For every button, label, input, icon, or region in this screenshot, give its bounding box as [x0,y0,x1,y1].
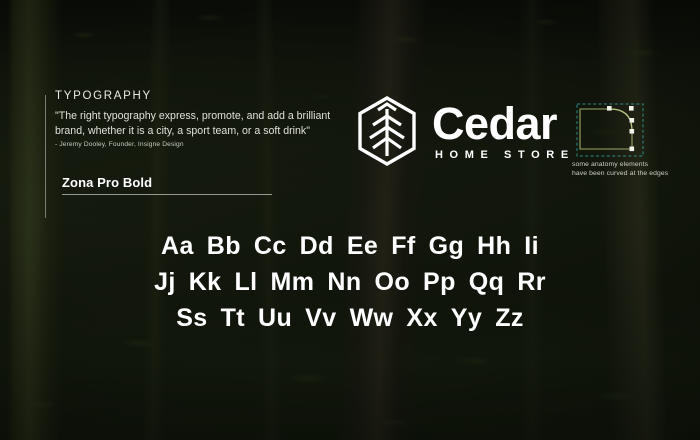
alphabet-letter-pair: Yy [451,304,482,332]
alphabet-letter-pair: Cc [254,232,287,260]
alphabet-letter-pair: Oo [375,268,411,296]
brand-tagline-text: HOME STORE [435,149,575,161]
cedar-hexagon-leaf-icon [356,96,418,166]
alphabet-letter-pair: Rr [517,268,546,296]
alphabet-letter-pair: Xx [406,304,437,332]
alphabet-letter-pair: Jj [154,268,176,296]
font-name-underline-rule [62,194,272,195]
alphabet-letter-pair: Pp [423,268,456,296]
typography-quote: "The right typography express, promote, … [55,109,337,138]
alphabet-row: JjKkLlMmNnOoPpQqRr [0,264,700,300]
brand-wordmark: Cedar HOME STORE [432,101,575,161]
alphabet-letter-pair: Kk [189,268,222,296]
alphabet-letter-pair: Ss [176,304,207,332]
alphabet-letter-pair: Ww [350,304,394,332]
anatomy-caption-line-2: have been curved at the edges [572,169,692,178]
brand-logo-lockup: Cedar HOME STORE [356,96,575,166]
alphabet-letter-pair: Qq [469,268,505,296]
typography-text-block: TYPOGRAPHY "The right typography express… [55,90,345,148]
alphabet-letter-pair: Ee [347,232,378,260]
alphabet-letter-pair: Tt [221,304,245,332]
typography-eyebrow-heading: TYPOGRAPHY [55,90,345,102]
font-name-label: Zona Pro Bold [62,175,152,190]
alphabet-letter-pair: Vv [305,304,336,332]
alphabet-specimen: AaBbCcDdEeFfGgHhIiJjKkLlMmNnOoPpQqRrSsTt… [0,228,700,336]
quote-attribution: - Jeremy Dooley, Founder, Insigne Design [55,141,345,148]
alphabet-letter-pair: Bb [207,232,241,260]
anatomy-diagram-block: some anatomy elements have been curved a… [572,100,692,178]
left-vertical-rule [45,95,46,218]
background-darkening-scrim [0,0,700,440]
alphabet-row: SsTtUuVvWwXxYyZz [0,300,700,336]
typography-style-guide-slide: TYPOGRAPHY "The right typography express… [0,0,700,440]
alphabet-letter-pair: Mm [271,268,315,296]
anatomy-caption-line-1: some anatomy elements [572,160,692,169]
alphabet-letter-pair: Ll [234,268,257,296]
brand-name-text: Cedar [432,101,575,147]
anatomy-caption: some anatomy elements have been curved a… [572,160,692,178]
alphabet-letter-pair: Zz [495,304,524,332]
alphabet-letter-pair: Ff [391,232,415,260]
alphabet-row: AaBbCcDdEeFfGgHhIi [0,228,700,264]
alphabet-letter-pair: Hh [477,232,511,260]
alphabet-letter-pair: Nn [327,268,361,296]
alphabet-letter-pair: Aa [161,232,194,260]
alphabet-letter-pair: Dd [300,232,334,260]
alphabet-letter-pair: Uu [258,304,292,332]
bezier-curve-anatomy-icon [572,100,646,158]
alphabet-letter-pair: Ii [524,232,539,260]
alphabet-letter-pair: Gg [429,232,465,260]
